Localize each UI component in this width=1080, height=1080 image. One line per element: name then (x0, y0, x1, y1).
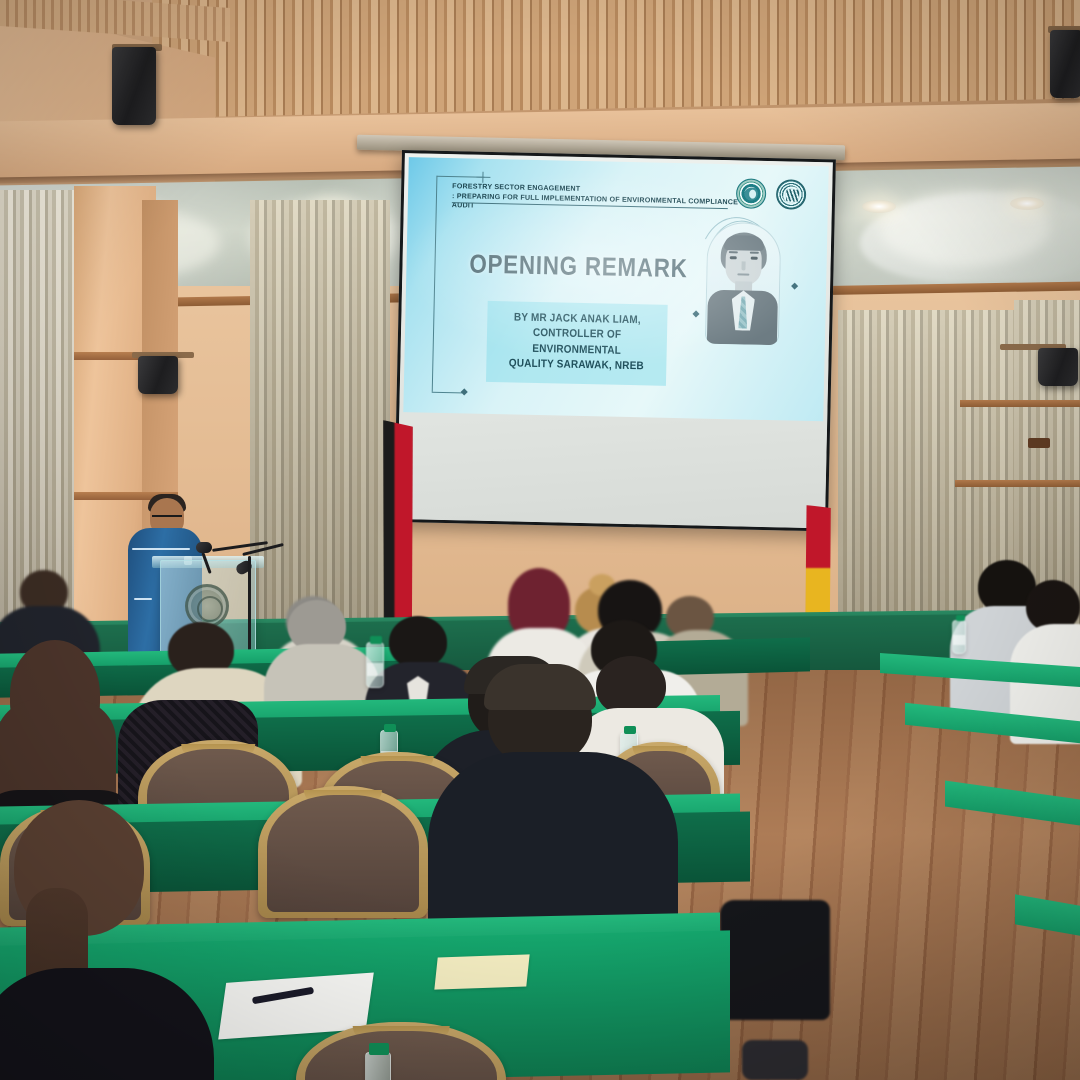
slide-header-line-1: FORESTRY SECTOR ENGAGEMENT (452, 182, 580, 193)
attendee-hair (484, 664, 596, 710)
portrait-brow (750, 252, 759, 254)
recessed-ceiling-downlight (1010, 197, 1044, 210)
ribbed-timber-ceiling (152, 0, 1080, 118)
pleated-window-curtain (250, 200, 390, 640)
slide-diamond-marker (692, 310, 699, 317)
slide-frame-line (432, 176, 438, 392)
wall-mounted-loudspeaker (138, 356, 178, 394)
bottle-cap (384, 724, 396, 732)
slide-header: FORESTRY SECTOR ENGAGEMENT : PREPARING F… (452, 182, 743, 217)
curtain-shading (250, 200, 390, 640)
wall-mounted-loudspeaker (112, 47, 156, 125)
nreb-logo-icon (736, 178, 767, 209)
attendee-head (389, 616, 447, 668)
red-black-flag (383, 420, 413, 646)
wall-trim-band (955, 480, 1080, 487)
wall-trim-band (960, 400, 1080, 407)
presenter-shirt-trim (132, 548, 190, 550)
portrait-frame (705, 222, 782, 346)
projection-screen: FORESTRY SECTOR ENGAGEMENT : PREPARING F… (394, 150, 836, 531)
chair-seatback-pad (267, 795, 419, 912)
attendee-head (596, 656, 666, 716)
slide-header-line-2: : PREPARING FOR FULL IMPLEMENTATION OF E… (452, 192, 742, 217)
portrait-nose (741, 261, 745, 270)
presentation-slide: FORESTRY SECTOR ENGAGEMENT : PREPARING F… (403, 157, 828, 421)
wall-mounted-loudspeaker (1050, 30, 1080, 98)
wall-plate (1028, 438, 1050, 448)
slide-subtitle-block: BY MR JACK ANAK LIAM, CONTROLLER OF ENVI… (486, 301, 668, 386)
slide-subtitle-line-3: QUALITY SARAWAK, NREB (492, 356, 661, 375)
bottle-cap (624, 726, 636, 734)
banquet-chair (258, 786, 428, 918)
recessed-ceiling-downlight (862, 200, 896, 213)
presenter-shirt-trim (134, 598, 152, 600)
bottle-cap (956, 615, 965, 621)
table-skirt-right-4 (1015, 914, 1080, 1080)
yellow-notepad (434, 954, 529, 989)
slide-subtitle-line-2: CONTROLLER OF ENVIRONMENTAL (492, 325, 662, 359)
microphone-head (196, 542, 212, 553)
wall-mounted-loudspeaker (1038, 348, 1078, 386)
bottle-cap (369, 1043, 389, 1055)
bottle-label (953, 635, 965, 645)
slide-diamond-marker (791, 283, 798, 290)
portrait-brow (729, 251, 738, 253)
sarawak-forestry-logo-icon (776, 179, 807, 210)
bottle-cap (370, 636, 382, 644)
slide-diamond-marker (461, 388, 468, 395)
mineral-water-bottle (366, 642, 384, 688)
portrait-eye (730, 256, 737, 259)
speaker-portrait-illustration (705, 222, 782, 346)
banquet-chair (296, 1022, 506, 1080)
slide-tick-mark (476, 177, 490, 178)
state-crest-emblem (185, 584, 229, 628)
mineral-water-bottle (952, 620, 966, 654)
portrait-hair-front (724, 235, 764, 251)
floor-shoe (742, 1040, 808, 1080)
mineral-water-bottle (365, 1052, 391, 1080)
portrait-eye (751, 257, 758, 260)
portrait-mouth (737, 273, 749, 275)
presenter-eyeglasses (152, 515, 182, 522)
slide-title: OPENING REMARK (466, 250, 690, 282)
bottle-label (367, 663, 383, 676)
conference-hall-photo: FORESTRY SECTOR ENGAGEMENT : PREPARING F… (0, 0, 1080, 1080)
floor-bag (720, 900, 830, 1020)
